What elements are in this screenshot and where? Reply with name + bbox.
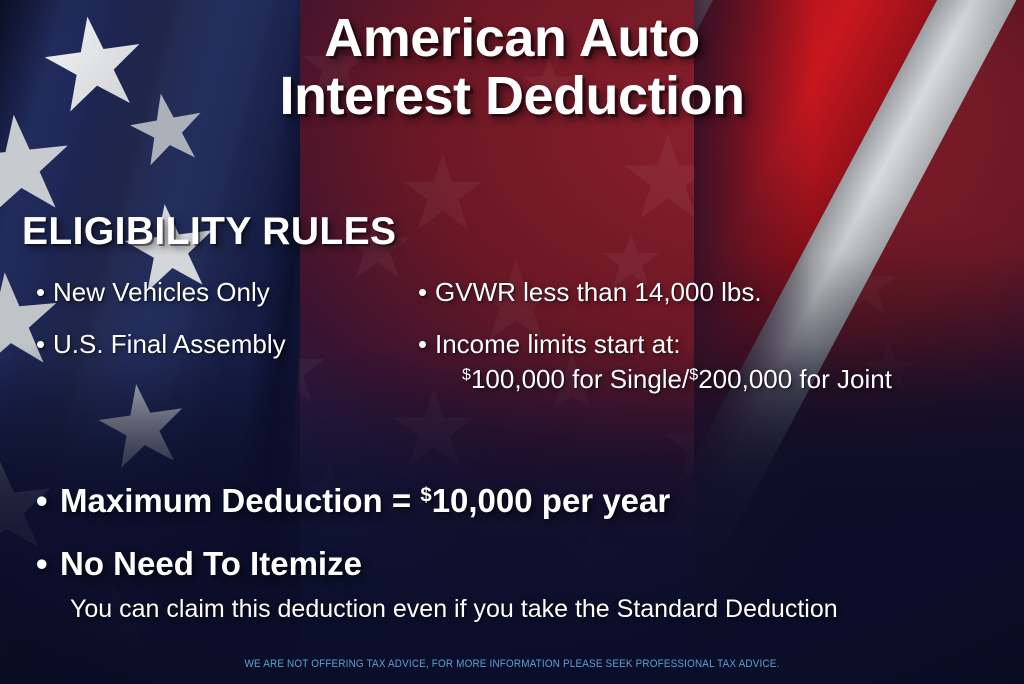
max-deduction-amount: 10,000 [432, 482, 533, 519]
income-amount-joint: 200,000 for Joint [698, 364, 892, 394]
list-item: • New Vehicles Only [36, 276, 396, 309]
list-item: • GVWR less than 14,000 lbs. [418, 276, 1008, 309]
income-limit-detail: $100,000 for Single/$200,000 for Joint [462, 363, 1008, 396]
title-line-2: Interest Deduction [120, 66, 904, 126]
list-item-label: U.S. Final Assembly [53, 328, 396, 361]
bullet-icon: • [36, 545, 60, 583]
no-itemize-note: You can claim this deduction even if you… [70, 595, 838, 624]
bullet-icon: • [36, 482, 60, 520]
list-item-label: New Vehicles Only [53, 276, 396, 309]
poster-title: American Auto Interest Deduction [0, 8, 1024, 127]
list-item: • U.S. Final Assembly [36, 328, 396, 361]
no-itemize-label: No Need To Itemize [60, 545, 362, 583]
title-line-1: American Auto [120, 8, 904, 68]
eligibility-right-column: • GVWR less than 14,000 lbs. • Income li… [418, 276, 1008, 395]
dollar-sign-single: $ [462, 365, 471, 383]
bullet-icon: • [418, 276, 435, 309]
bullet-icon: • [36, 328, 53, 361]
dollar-sign-joint: $ [689, 365, 698, 383]
poster-canvas: American Auto Interest Deduction ELIGIBI… [0, 0, 1024, 684]
max-deduction-text: Maximum Deduction = $10,000 per year [60, 482, 670, 520]
max-deduction-prefix: Maximum Deduction = [60, 482, 420, 519]
list-item-label: Income limits start at: [435, 328, 1008, 361]
dollar-sign-max: $ [420, 483, 431, 506]
list-item: • Income limits start at: [418, 328, 1008, 361]
section-heading-eligibility: ELIGIBILITY RULES [22, 210, 396, 254]
max-deduction-suffix: per year [533, 482, 671, 519]
key-point-max-deduction: • Maximum Deduction = $10,000 per year [36, 482, 670, 520]
list-item-label: GVWR less than 14,000 lbs. [435, 276, 1008, 309]
tax-advice-disclaimer: WE ARE NOT OFFERING TAX ADVICE, FOR MORE… [51, 658, 973, 670]
poster-content: American Auto Interest Deduction ELIGIBI… [0, 0, 1024, 684]
key-point-no-itemize: • No Need To Itemize [36, 545, 362, 583]
bullet-icon: • [418, 328, 435, 361]
eligibility-left-column: • New Vehicles Only • U.S. Final Assembl… [36, 276, 396, 380]
income-amount-single: 100,000 for Single/ [471, 364, 689, 394]
bullet-icon: • [36, 276, 53, 309]
